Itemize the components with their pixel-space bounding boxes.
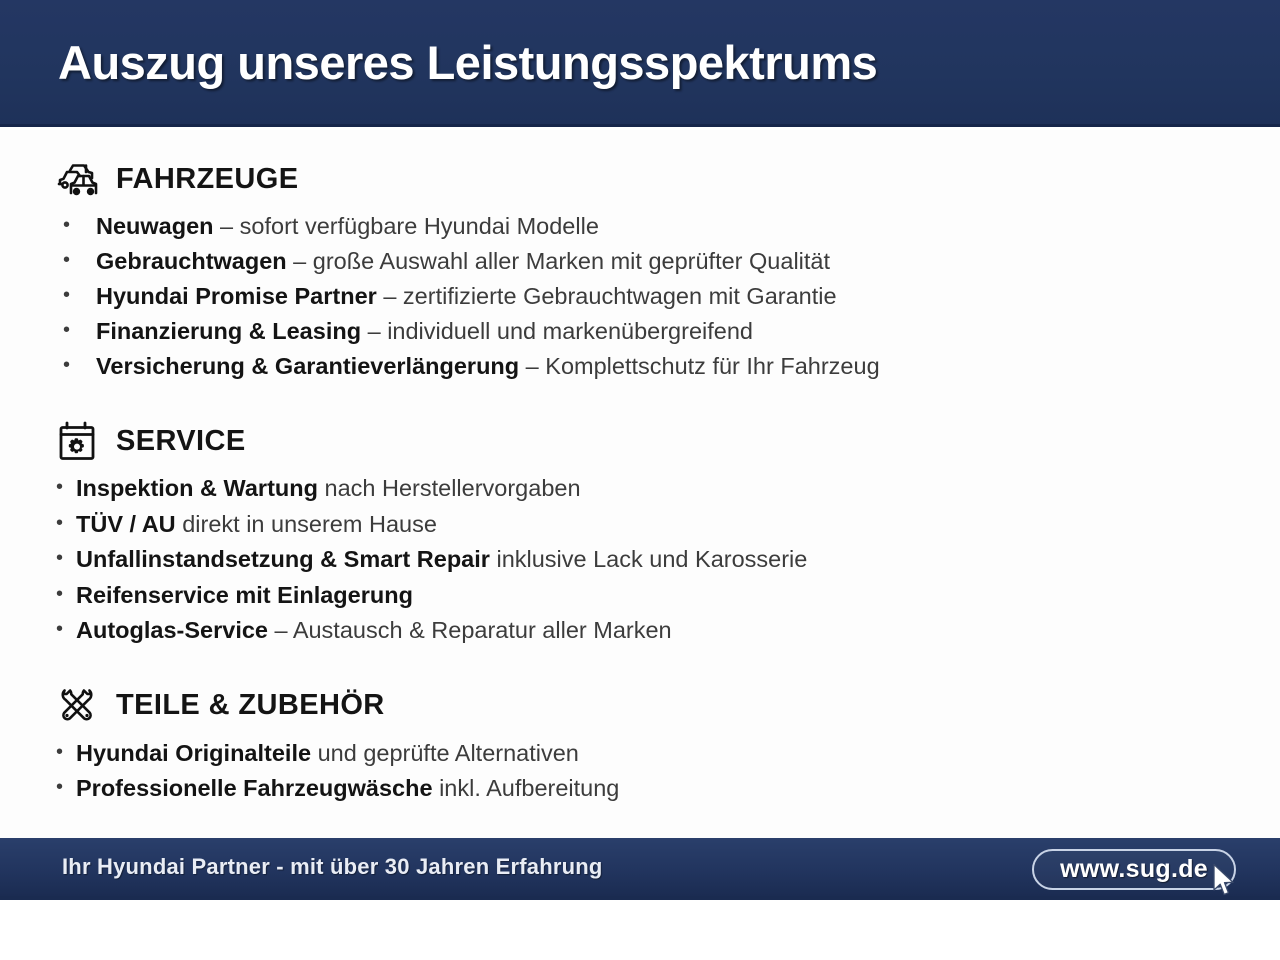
item-rest: direkt in unserem Hause [176, 511, 437, 537]
section-header: TEILE & ZUBEHÖR [56, 685, 1240, 727]
item-bold: Autoglas-Service [76, 617, 268, 643]
item-rest: inklusive Lack und Karosserie [490, 546, 807, 572]
bottom-strip [0, 904, 1280, 960]
content-area: FAHRZEUGE Neuwagen – sofort verfügbare H… [0, 130, 1280, 838]
section-header: FAHRZEUGE [56, 158, 1240, 200]
list-item: Gebrauchtwagen – große Auswahl aller Mar… [56, 244, 1240, 279]
slide: Auszug unseres Leistungsspektrums [0, 0, 1280, 960]
item-bold: TÜV / AU [76, 511, 176, 537]
list-item: Professionelle Fahrzeugwäsche inkl. Aufb… [56, 771, 1240, 807]
list-item: Versicherung & Garantieverlängerung – Ko… [56, 349, 1240, 384]
list-item: TÜV / AU direkt in unserem Hause [56, 507, 1240, 543]
two-cars-icon [56, 158, 98, 200]
item-rest: – sofort verfügbare Hyundai Modelle [214, 213, 599, 239]
section-title: SERVICE [116, 427, 246, 456]
item-rest: inkl. Aufbereitung [433, 775, 620, 801]
item-bold: Gebrauchtwagen [96, 248, 287, 274]
item-rest: und geprüfte Alternativen [311, 740, 579, 766]
spacer [56, 390, 1240, 420]
item-rest: nach Herstellervorgaben [318, 475, 581, 501]
item-rest: – zertifizierte Gebrauchtwagen mit Garan… [377, 283, 837, 309]
item-bold: Professionelle Fahrzeugwäsche [76, 775, 433, 801]
item-bold: Reifenservice mit Einlagerung [76, 582, 413, 608]
item-bold: Versicherung & Garantieverlängerung [96, 353, 519, 379]
item-bold: Hyundai Originalteile [76, 740, 311, 766]
wrench-screwdriver-icon [56, 685, 98, 727]
list-item: Neuwagen – sofort verfügbare Hyundai Mod… [56, 209, 1240, 244]
footer-tagline: Ihr Hyundai Partner - mit über 30 Jahren… [62, 854, 603, 880]
item-bold: Unfallinstandsetzung & Smart Repair [76, 546, 490, 572]
calendar-gear-icon [56, 420, 98, 462]
page-title: Auszug unseres Leistungsspektrums [58, 35, 877, 90]
section-fahrzeuge: FAHRZEUGE Neuwagen – sofort verfügbare H… [56, 158, 1240, 384]
list-item: Unfallinstandsetzung & Smart Repair inkl… [56, 542, 1240, 578]
section-title: FAHRZEUGE [116, 165, 298, 194]
item-bold: Hyundai Promise Partner [96, 283, 377, 309]
item-bold: Inspektion & Wartung [76, 475, 318, 501]
list-item: Reifenservice mit Einlagerung [56, 578, 1240, 614]
header-bar: Auszug unseres Leistungsspektrums [0, 0, 1280, 127]
list-item: Hyundai Originalteile und geprüfte Alter… [56, 736, 1240, 772]
list-item: Hyundai Promise Partner – zertifizierte … [56, 279, 1240, 314]
item-rest: – Austausch & Reparatur aller Marken [268, 617, 672, 643]
service-list: Inspektion & Wartung nach Herstellervorg… [56, 471, 1240, 649]
item-bold: Neuwagen [96, 213, 214, 239]
item-rest: – Komplettschutz für Ihr Fahrzeug [519, 353, 880, 379]
item-rest: – individuell und markenübergreifend [361, 318, 753, 344]
spacer [56, 655, 1240, 685]
website-badge[interactable]: www.sug.de [1032, 849, 1236, 890]
item-rest: – große Auswahl aller Marken mit geprüft… [287, 248, 830, 274]
section-header: SERVICE [56, 420, 1240, 462]
section-title: TEILE & ZUBEHÖR [116, 691, 385, 720]
section-service: SERVICE Inspektion & Wartung nach Herste… [56, 420, 1240, 649]
list-item: Inspektion & Wartung nach Herstellervorg… [56, 471, 1240, 507]
teile-list: Hyundai Originalteile und geprüfte Alter… [56, 736, 1240, 807]
section-teile-zubehoer: TEILE & ZUBEHÖR Hyundai Originalteile un… [56, 685, 1240, 807]
list-item: Autoglas-Service – Austausch & Reparatur… [56, 613, 1240, 649]
list-item: Finanzierung & Leasing – individuell und… [56, 314, 1240, 349]
item-bold: Finanzierung & Leasing [96, 318, 361, 344]
fahrzeuge-list: Neuwagen – sofort verfügbare Hyundai Mod… [56, 209, 1240, 384]
footer-bar: Ihr Hyundai Partner - mit über 30 Jahren… [0, 838, 1280, 900]
